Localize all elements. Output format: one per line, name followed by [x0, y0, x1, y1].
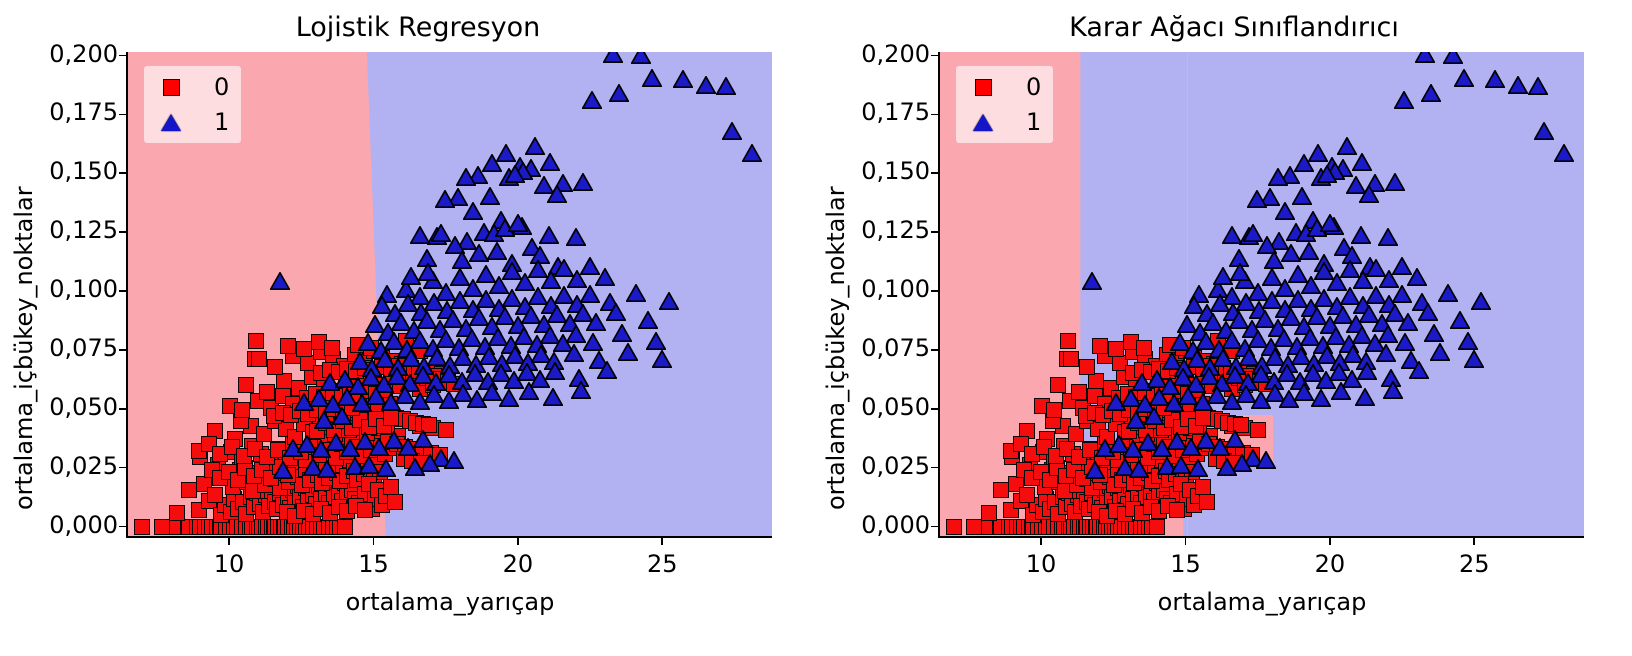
- y-tick-label: 0,050: [790, 393, 930, 421]
- legend-item-class-0[interactable]: 0: [154, 74, 229, 100]
- panel-title-decision-tree: Karar Ağacı Sınıflandırıcı: [876, 12, 1592, 43]
- legend-item-class-1[interactable]: 1: [966, 109, 1041, 135]
- y-tick-label: 0,175: [790, 98, 930, 126]
- legend-item-class-0[interactable]: 0: [966, 74, 1041, 100]
- axis-spine-left: [938, 52, 940, 536]
- y-tick-label: 0,150: [0, 157, 118, 185]
- y-tick-mark: [931, 349, 938, 351]
- legend-item-class-1[interactable]: 1: [154, 109, 229, 135]
- legend-decision-tree: 0 1: [956, 66, 1053, 143]
- figure-canvas: Lojistik Regresyon 0 1 ortalama_yarıçap …: [0, 0, 1632, 656]
- x-tick-label: 15: [1145, 550, 1225, 578]
- y-tick-mark: [931, 55, 938, 57]
- x-axis-label-left: ortalama_yarıçap: [128, 588, 772, 616]
- x-tick-mark: [373, 538, 375, 545]
- y-tick-label: 0,000: [790, 511, 930, 539]
- y-tick-label: 0,075: [0, 334, 118, 362]
- legend-square-icon: [966, 79, 1000, 96]
- axis-spine-bottom: [126, 536, 772, 538]
- axis-spine-bottom: [938, 536, 1584, 538]
- y-tick-label: 0,100: [790, 275, 930, 303]
- y-tick-mark: [119, 349, 126, 351]
- y-tick-mark: [119, 172, 126, 174]
- y-tick-mark: [119, 55, 126, 57]
- panel-logistic-regression: Lojistik Regresyon 0 1 ortalama_yarıçap …: [0, 0, 816, 656]
- panel-decision-tree: Karar Ağacı Sınıflandırıcı 0 1 ortalama_…: [816, 0, 1632, 656]
- y-tick-label: 0,200: [0, 40, 118, 68]
- legend-label-class-0: 0: [214, 75, 229, 99]
- y-tick-mark: [931, 526, 938, 528]
- y-tick-label: 0,025: [790, 452, 930, 480]
- y-tick-mark: [931, 114, 938, 116]
- y-tick-mark: [931, 172, 938, 174]
- y-tick-mark: [119, 114, 126, 116]
- x-tick-mark: [1040, 538, 1042, 545]
- x-tick-mark: [1473, 538, 1475, 545]
- y-tick-label: 0,125: [790, 216, 930, 244]
- y-tick-label: 0,200: [790, 40, 930, 68]
- legend-logistic-regression: 0 1: [144, 66, 241, 143]
- y-tick-label: 0,025: [0, 452, 118, 480]
- x-tick-label: 20: [478, 550, 558, 578]
- x-tick-mark: [661, 538, 663, 545]
- y-tick-label: 0,150: [790, 157, 930, 185]
- x-tick-label: 25: [622, 550, 702, 578]
- decision-split-line: [1187, 52, 1188, 536]
- x-tick-mark: [228, 538, 230, 545]
- y-tick-mark: [119, 290, 126, 292]
- y-tick-label: 0,050: [0, 393, 118, 421]
- axis-spine-left: [126, 52, 128, 536]
- x-tick-mark: [517, 538, 519, 545]
- legend-label-class-1: 1: [214, 110, 229, 134]
- y-tick-mark: [119, 467, 126, 469]
- y-tick-mark: [931, 467, 938, 469]
- legend-triangle-icon: [966, 114, 1000, 131]
- y-tick-label: 0,075: [790, 334, 930, 362]
- y-tick-mark: [931, 231, 938, 233]
- x-axis-label-right: ortalama_yarıçap: [940, 588, 1584, 616]
- legend-label-class-0: 0: [1026, 75, 1041, 99]
- y-tick-label: 0,100: [0, 275, 118, 303]
- y-tick-label: 0,000: [0, 511, 118, 539]
- x-tick-label: 15: [333, 550, 413, 578]
- panel-title-logistic-regression: Lojistik Regresyon: [60, 12, 776, 43]
- x-tick-mark: [1329, 538, 1331, 545]
- x-tick-label: 10: [189, 550, 269, 578]
- y-tick-mark: [931, 290, 938, 292]
- x-tick-label: 20: [1290, 550, 1370, 578]
- legend-label-class-1: 1: [1026, 110, 1041, 134]
- y-tick-mark: [931, 408, 938, 410]
- legend-triangle-icon: [154, 114, 188, 131]
- decision-region-class-0-island: [1216, 415, 1273, 461]
- y-tick-mark: [119, 231, 126, 233]
- legend-square-icon: [154, 79, 188, 96]
- y-tick-label: 0,125: [0, 216, 118, 244]
- y-tick-mark: [119, 408, 126, 410]
- x-tick-mark: [1185, 538, 1187, 545]
- y-tick-mark: [119, 526, 126, 528]
- x-tick-label: 10: [1001, 550, 1081, 578]
- y-tick-label: 0,175: [0, 98, 118, 126]
- x-tick-label: 25: [1434, 550, 1514, 578]
